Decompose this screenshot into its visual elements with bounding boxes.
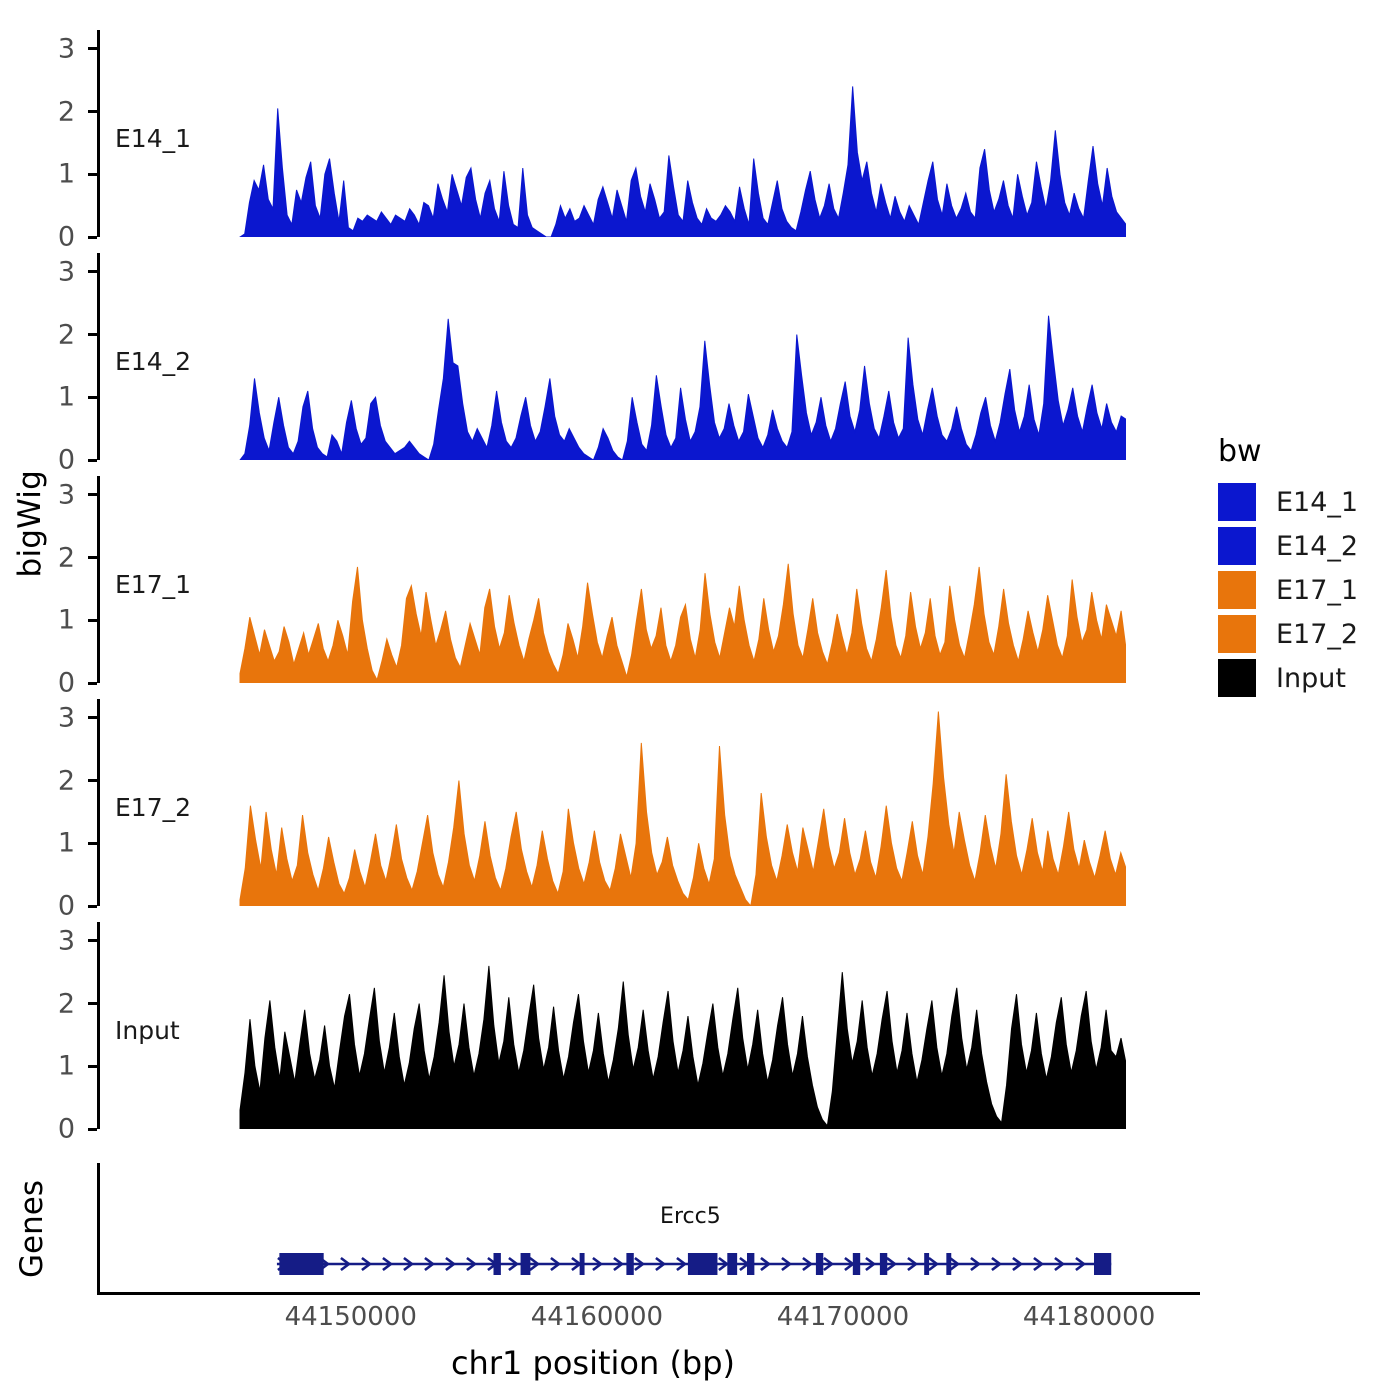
x-tick-label: 44160000 (531, 1302, 663, 1332)
coverage-trace-input (97, 922, 1126, 1129)
track-panel-e17_2: 0123E17_2 (97, 699, 1126, 906)
y-tick (88, 270, 97, 273)
y-tick-label: 1 (29, 1051, 75, 1082)
y-tick-label: 3 (29, 702, 75, 733)
y-tick-label: 2 (29, 319, 75, 350)
y-tick-label: 1 (29, 828, 75, 859)
y-tick (88, 1002, 97, 1005)
gene-label-ercc5: Ercc5 (660, 1204, 721, 1229)
y-tick-label: 0 (29, 891, 75, 922)
legend-key-swatch (1218, 483, 1256, 521)
x-tick-label: 44170000 (777, 1302, 909, 1332)
legend-item-label: E14_1 (1276, 487, 1358, 518)
y-tick (88, 779, 97, 782)
y-tick (88, 110, 97, 113)
y-tick (88, 47, 97, 50)
y-tick-label: 2 (29, 765, 75, 796)
y-tick (88, 1065, 97, 1068)
coverage-trace-e17_1 (97, 476, 1126, 683)
legend-item-label: E17_1 (1276, 575, 1358, 606)
y-tick-label: 0 (29, 1114, 75, 1145)
y-tick-label: 2 (29, 96, 75, 127)
y-tick (88, 939, 97, 942)
y-tick (88, 619, 97, 622)
coverage-trace-e17_2 (97, 699, 1126, 906)
y-tick-label: 3 (29, 479, 75, 510)
y-tick-label: 3 (29, 256, 75, 287)
y-tick-label: 0 (29, 668, 75, 699)
x-axis-line (97, 1292, 1200, 1295)
y-tick (88, 1128, 97, 1131)
y-tick (88, 682, 97, 685)
y-tick-label: 1 (29, 605, 75, 636)
y-tick-label: 2 (29, 988, 75, 1019)
coverage-trace-e14_1 (97, 30, 1126, 237)
x-axis-title: chr1 position (bp) (0, 1344, 1186, 1382)
y-tick (88, 333, 97, 336)
legend-item-e14_2[interactable]: E14_2 (1218, 527, 1358, 565)
track-panel-e14_1: 0123E14_1 (97, 30, 1126, 237)
legend-key-swatch (1218, 615, 1256, 653)
legend-title: bw (1218, 434, 1262, 469)
x-tick-label: 44180000 (1023, 1302, 1155, 1332)
y-tick (88, 396, 97, 399)
figure-root: bigWig Genes 0123E14_10123E14_20123E17_1… (0, 0, 1400, 1400)
legend-item-e17_1[interactable]: E17_1 (1218, 571, 1358, 609)
track-panel-input: 0123Input (97, 922, 1126, 1129)
y-tick (88, 556, 97, 559)
y-tick-label: 0 (29, 445, 75, 476)
y-tick-label: 0 (29, 222, 75, 253)
legend-item-label: Input (1276, 663, 1346, 694)
y-tick-label: 1 (29, 159, 75, 190)
track-panel-e17_1: 0123E17_1 (97, 476, 1126, 683)
legend-item-e17_2[interactable]: E17_2 (1218, 615, 1358, 653)
y-tick-label: 3 (29, 925, 75, 956)
legend-item-label: E17_2 (1276, 619, 1358, 650)
legend-item-input[interactable]: Input (1218, 659, 1346, 697)
y-tick-label: 3 (29, 33, 75, 64)
y-tick (88, 173, 97, 176)
coverage-trace-e14_2 (97, 253, 1126, 460)
y-tick (88, 236, 97, 239)
legend-key-swatch (1218, 571, 1256, 609)
x-tick-label: 44150000 (285, 1302, 417, 1332)
legend-item-e14_1[interactable]: E14_1 (1218, 483, 1358, 521)
legend-item-label: E14_2 (1276, 531, 1358, 562)
legend-key-swatch (1218, 659, 1256, 697)
legend-key-swatch (1218, 527, 1256, 565)
y-tick (88, 459, 97, 462)
y-tick (88, 493, 97, 496)
track-panel-e14_2: 0123E14_2 (97, 253, 1126, 460)
y-tick-label: 2 (29, 542, 75, 573)
y-tick (88, 905, 97, 908)
y-tick (88, 716, 97, 719)
y-tick-label: 1 (29, 382, 75, 413)
gene-model-ercc5 (0, 1240, 1400, 1300)
y-tick (88, 842, 97, 845)
